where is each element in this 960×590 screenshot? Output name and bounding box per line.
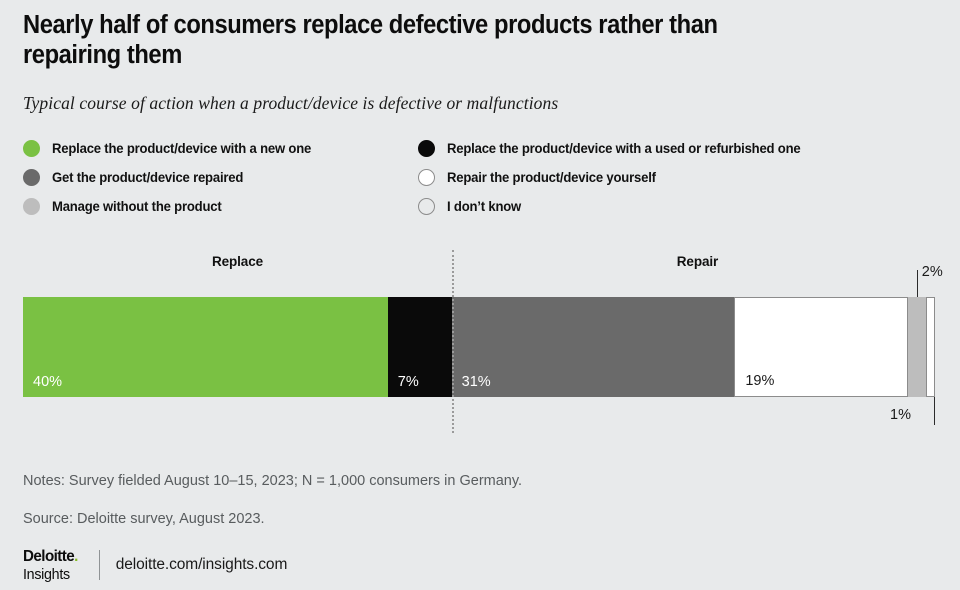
- legend-swatch-dark-gray-icon: [23, 169, 40, 186]
- stacked-bar-chart: 40%7%31%19%: [23, 297, 935, 397]
- legend-swatch-green-icon: [23, 140, 40, 157]
- bar-segment[interactable]: 7%: [388, 297, 452, 397]
- bar-segment[interactable]: 19%: [734, 297, 907, 397]
- page-subtitle: Typical course of action when a product/…: [23, 93, 883, 114]
- group-heading-repair: Repair: [610, 254, 785, 269]
- brand-bar: Deloitte. Insights deloitte.com/insights…: [23, 548, 287, 582]
- brand-separator: [99, 550, 100, 580]
- bar-segment-value-label: 40%: [33, 374, 62, 390]
- bar-segment-value-label: 19%: [745, 373, 774, 389]
- legend-label: Replace the product/device with a used o…: [447, 141, 801, 156]
- bar-segment-value-label: 2%: [922, 264, 943, 280]
- bar-segment[interactable]: [926, 297, 935, 397]
- legend-label: Manage without the product: [52, 199, 222, 214]
- legend-label: Replace the product/device with a new on…: [52, 141, 311, 156]
- bar-segment-value-label: 7%: [398, 374, 419, 390]
- group-heading-replace: Replace: [150, 254, 325, 269]
- legend-swatch-outline-icon: [418, 198, 435, 215]
- deloitte-insights-logo: Deloitte. Insights: [23, 549, 81, 582]
- legend-label: Repair the product/device yourself: [447, 170, 656, 185]
- replace-repair-divider: [452, 250, 454, 433]
- chart-page: Nearly half of consumers replace defecti…: [0, 0, 960, 590]
- logo-insights-text: Insights: [23, 567, 78, 582]
- legend-item-repair-yourself[interactable]: Repair the product/device yourself: [418, 163, 938, 192]
- bar-segment[interactable]: 31%: [452, 297, 735, 397]
- legend-swatch-black-icon: [418, 140, 435, 157]
- chart-legend: Replace the product/device with a new on…: [23, 134, 937, 218]
- bar-segment-value-label: 1%: [890, 407, 911, 423]
- legend-item-dont-know[interactable]: I don’t know: [418, 192, 938, 221]
- logo-deloitte-text: Deloitte.: [23, 549, 78, 565]
- chart-notes: Notes: Survey fielded August 10–15, 2023…: [23, 473, 522, 489]
- legend-swatch-light-gray-icon: [23, 198, 40, 215]
- bar-segment[interactable]: [908, 297, 926, 397]
- logo-green-dot-icon: .: [74, 548, 78, 565]
- legend-item-replace-new[interactable]: Replace the product/device with a new on…: [23, 134, 403, 163]
- logo-deloitte-word: Deloitte: [23, 548, 74, 565]
- legend-item-manage-without[interactable]: Manage without the product: [23, 192, 403, 221]
- page-title: Nearly half of consumers replace defecti…: [23, 10, 767, 70]
- legend-column-right: Replace the product/device with a used o…: [418, 134, 938, 221]
- legend-label: Get the product/device repaired: [52, 170, 243, 185]
- legend-swatch-white-icon: [418, 169, 435, 186]
- legend-column-left: Replace the product/device with a new on…: [23, 134, 403, 221]
- brand-url[interactable]: deloitte.com/insights.com: [116, 556, 288, 574]
- callout-leader-line: [934, 397, 935, 425]
- legend-item-get-repaired[interactable]: Get the product/device repaired: [23, 163, 403, 192]
- legend-item-replace-used[interactable]: Replace the product/device with a used o…: [418, 134, 938, 163]
- bar-segment-value-label: 31%: [462, 374, 491, 390]
- bar-segment[interactable]: 40%: [23, 297, 388, 397]
- legend-label: I don’t know: [447, 199, 521, 214]
- callout-leader-line: [917, 270, 918, 297]
- chart-source: Source: Deloitte survey, August 2023.: [23, 511, 265, 527]
